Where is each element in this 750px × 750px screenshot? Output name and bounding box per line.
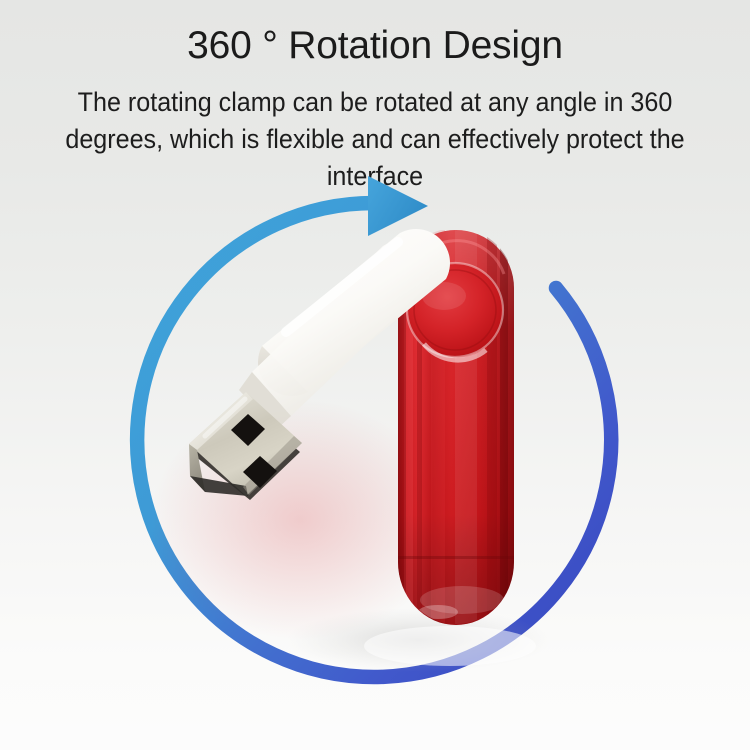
product-illustration [0, 0, 750, 750]
product-feature-banner: 360 ° Rotation Design The rotating clamp… [0, 0, 750, 750]
floor-reflection [364, 626, 536, 666]
arrow-head-icon [368, 176, 428, 236]
